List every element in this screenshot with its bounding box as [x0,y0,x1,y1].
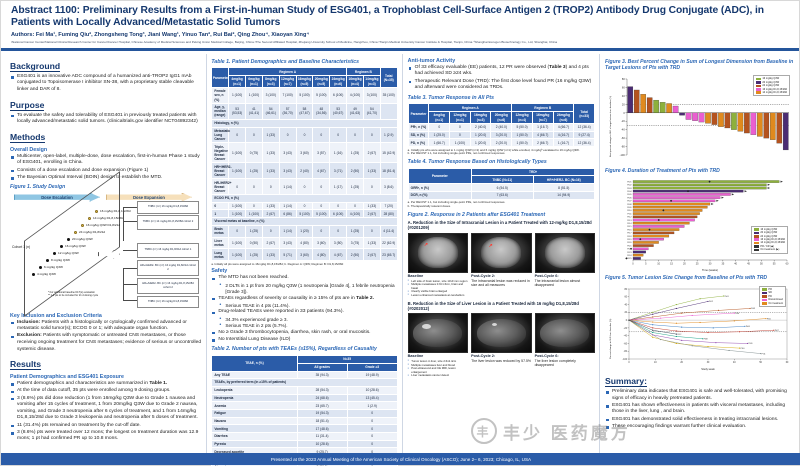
series-line [629,320,740,348]
figure-4-legend: 16 mg/kg Q3W20 mg/kg Q3W24 mg/kg Q3W16 m… [751,226,788,254]
data-point [734,320,735,321]
svg-text:30: 30 [707,362,710,364]
table-header-cell: Regimen A [429,104,512,112]
table-row: PRᵃ, n (%)002 (40.0)2 (40.0)5 (50.0)1 (1… [408,124,594,132]
authors-line: Authors: Fei Ma¹, Fuming Qiu², Zhongshen… [11,32,791,39]
dose-level-label: 20 mg/kg Q3W [72,237,93,241]
table-cell: 3 (60) [313,237,330,249]
table-header-cell: 20mg/kg(n=6) [491,112,512,124]
table-cell: 1 (20.0) [470,131,491,139]
dose-level-label: 16 mg/kg D1,8,15/28d [100,209,130,213]
bar [783,113,788,150]
table-cell: 1 (100) [229,210,246,218]
svg-text:Pt21: Pt21 [627,244,632,247]
svg-text:10: 10 [654,362,657,364]
table-header-cell: Regimen B [347,68,381,76]
list-item: The MTD has not been reached. 2 DLTs in … [211,275,397,295]
svg-text:35: 35 [721,262,724,265]
bar [666,104,671,113]
bar [712,113,717,125]
svg-text:60: 60 [786,362,789,364]
svg-text:Pt01: Pt01 [725,295,729,298]
svg-text:Pt08: Pt08 [704,338,708,341]
connector-line [123,207,137,208]
legend-item: 14 mg/kg D1,8,15/28d [756,91,787,94]
list-item: TEAEs regardless of severity or causalit… [211,296,397,309]
figure-2-panel-a-scans: ↗ Baseline Left side of brain lesion, si… [408,233,595,298]
bar [633,215,697,217]
table-cell: 1 (100) [246,88,263,104]
table-row-label: Age, y, median (range) [212,103,229,119]
table-row: Visceral metas at baseline, n (%) [212,218,397,226]
table-header-cell: 4mg/kg(n=1) [429,112,450,124]
table-cell: 4 (80) [313,249,330,261]
bar [725,113,730,128]
criteria-list: Inclusion: Patients with a histologicall… [10,320,201,354]
subheading-criteria: Key Inclusion and Exclusion Criteria [10,313,201,319]
table-row: 01 (100)01 (33)1 (14)00001 (33)7 (20) [212,202,397,210]
table-row: Pyrexia10 (28.6)0 [212,440,397,448]
section-heading-background: Background [10,61,60,72]
legend-swatch [754,238,759,241]
table-cell: 0 [330,127,347,143]
bar [633,225,684,227]
safety-sublist: 34.3% experienced grade ≥ 3. Serious TEA… [218,317,397,329]
table-header-cell: TEAE, n (%) [212,355,297,371]
table-row-label: 0 [212,202,229,210]
bar [679,113,684,116]
table-cell: 1 (33) [262,202,279,210]
table-row: Histology, n (%) [212,119,397,127]
table-group-label: ECOG PS, n (%) [212,195,397,203]
legend-swatch [762,295,767,298]
mri-brain-image [535,233,595,273]
table-cell: 10 (28.6) [297,440,347,448]
table-cell: 0 [296,202,313,210]
table-cell: 1 (20) [296,225,313,237]
svg-text:Pt24: Pt24 [627,254,632,257]
table-row: 11 (100)1 (100)2 (67)6 (86)5 (100)5 (100… [212,210,397,218]
table-header-cell: 14mg/kg(n=3) [363,76,380,88]
bar [633,247,648,249]
bar [641,95,646,114]
table-cell: 4 (67) [313,163,330,179]
table-cell: 28 (54.3) [297,386,347,394]
table-header-cell: HR+/HER2- BC (N=16) [533,176,595,184]
table-header-cell: Grade ≥3 [347,363,397,371]
svg-text:Pt05: Pt05 [627,193,632,196]
table-header-cell: 4mg/kg(n=1) [229,76,246,88]
table-cell: 4 (16.7) [553,131,574,139]
table-cell: 2 (20.0) [491,139,512,147]
data-point [676,323,677,324]
svg-text:Pt11: Pt11 [627,212,632,215]
svg-text:Pt07: Pt07 [627,199,632,202]
list-item: 3 (8.6%) pts did dose reduction (1 from … [10,396,201,422]
table-cell: 1 (2.9) [380,127,397,143]
background-list: ESG401 is an innovative ADC compound of … [10,74,201,94]
svg-text:Pt20: Pt20 [627,241,632,244]
table-row-label: PD, n (%) [408,139,429,147]
table-row-label: PRᵃ, n (%) [408,124,429,132]
table-row-label: 1 [212,210,229,218]
table-row: Liver metas1 (100)0 (50)2 (67)3 (43)4 (8… [212,237,397,249]
table-cell: 7 (100) [279,88,296,104]
table-cell: 1 (33) [262,163,279,179]
table-cell: 0 [330,225,347,237]
lesion-marker-icon: ↗ [424,242,428,248]
bar [738,113,743,132]
table-row-label: Female sex, n (%) [212,88,229,104]
list-item: Exclusion: Patients with symptomatic or … [10,333,201,353]
bar [633,238,664,240]
figure-3-y-axis-label: Best percent change in SLD of target les… [610,96,612,157]
svg-text:25: 25 [696,262,699,265]
table-cell: 1 (50.0) [512,139,533,147]
table-row-label: Pyrexia [212,440,297,448]
data-point [681,327,682,328]
expansion-box: TNBC (n=) 16 mg/kg D1,8,15/28d [137,201,199,214]
connector-line [123,221,137,222]
table-cell: 0 [229,127,246,143]
bar [686,113,691,120]
table-cell: 1 (33) [262,249,279,261]
column-4: Figure 3. Best Percent Change in Sum of … [599,54,799,455]
scan-item: Post-Cycle 6: The intracranial lesion al… [535,233,595,298]
bar [633,251,646,253]
legend-item: On treatment [762,302,783,305]
figure-2-caption: Figure 2. Response in 2 Patients after E… [408,212,595,218]
table-cell: 12 (36.4) [574,124,595,132]
table-row: Fatigue19 (54.3)0 [212,409,397,417]
table-cell: 3 (43) [279,143,296,163]
legend-swatch [756,81,761,84]
bar [633,199,715,201]
list-item: ESG401 has demonstrated solid effectiven… [605,417,794,424]
svg-text:60: 60 [786,262,789,265]
table-header-cell: 24mg/kg(n=6) [553,112,574,124]
subheading-overall-design: Overall Design [10,147,201,153]
figure-3-legend: 16 mg/kg Q3W20 mg/kg Q3W24 mg/kg Q3W16 m… [753,75,790,96]
svg-text:40: 40 [624,304,627,306]
table-cell: 0 [296,127,313,143]
svg-text:Pt15: Pt15 [627,225,632,228]
list-item: To evaluate the safety and tolerability … [10,113,201,126]
bar [633,183,766,185]
legend-label: 14 mg/kg D1,8,15/28d [762,91,787,94]
page-title: Abstract 1100: Preliminary Results from … [11,5,791,29]
legend-swatch [762,299,767,302]
svg-text:20: 20 [622,103,625,107]
table-header-cell: 16mg/kg(n=7) [532,112,553,124]
table-cell: 0 [363,225,380,237]
list-item: Consists of a dose escalation and dose e… [10,168,201,175]
on-treatment-marker [716,200,718,202]
figure-1-notes: * For additional baseline DLT(s) evaluat… [48,291,120,297]
svg-text:80: 80 [622,77,625,81]
svg-text:-20: -20 [621,120,625,124]
svg-text:Pt02: Pt02 [627,183,632,186]
bar [633,196,720,198]
table-row-label: Neutropenia [212,394,297,402]
list-item: Drug-related TEAEs were reported in 33 p… [211,309,397,329]
table-cell: 2 (67) [363,210,380,218]
svg-text:40: 40 [733,362,736,364]
svg-text:40: 40 [734,262,737,265]
on-treatment-marker [721,196,723,198]
column-3: Anti-tumor Activity Of 33 efficacy evalu… [402,54,599,455]
table-cell: 1 (100) [229,237,246,249]
figure-3-waterfall-chart: 806040200-20-40-60-80-100Best percent ch… [605,73,794,165]
bar [770,113,775,140]
svg-text:-40: -40 [621,128,625,132]
data-point [676,330,677,331]
table-cell: 1 (100) [229,88,246,104]
table-cell: 18 (51.4) [380,163,397,179]
table-cell: 2 (40.0) [491,124,512,132]
table-cell: 0 (50) [246,237,263,249]
table-cell: 6 (100) [330,210,347,218]
swimmer-svg: 051015202530354045505560Pt01Pt02Pt03Pt04… [605,177,795,272]
table-header-cell: All grades [297,363,347,371]
table-header-cell: 12mg/kg(n=7) [279,76,296,88]
table-1-note: a. Initially all pts were assigned to 16… [211,263,397,267]
safety-sublist: 2 DLTs in 1 pt from 20 mg/kg Q3W (1 neut… [218,283,397,295]
table-cell: 0 [363,179,380,195]
bar [757,113,762,137]
svg-text:-60: -60 [624,343,628,345]
data-point [692,315,693,316]
dose-level-label: 8 mg/kg Q3W [51,258,70,262]
data-point [676,336,677,337]
bar [751,113,756,135]
table-cell: 1 (100) [246,210,263,218]
scan-item: Baseline Tumor lesion in liver, size 2.6… [408,313,468,378]
svg-text:80: 80 [624,289,627,291]
data-point [681,340,682,341]
table-cell: 4 (66.7) [553,124,574,132]
table-cell: 3 (20.0) [491,131,512,139]
bar [633,209,702,211]
cohort-label: Cohort 1 (n) [12,245,30,249]
bar [633,219,695,221]
table-cell: 1 (66.7) [429,139,450,147]
legend-swatch [754,249,759,252]
table-cell: 2 (50) [347,163,364,179]
legend-swatch [754,232,759,235]
legend-swatch [756,91,761,94]
table-cell: 54(46,61) [262,103,279,119]
table-row: TEAEs, by preferred term (in ≥15% of pat… [212,379,397,387]
list-item: Of 33 efficacy evaluable (EE) patients, … [408,65,595,78]
dose-level-label: 16 mg/kg Q3W D1,8/21d [86,223,120,227]
table-demographics: ParameterRegimen ARegimen BTotal(N=35)4m… [211,67,397,261]
table-row: DCR, n (%)7 (63.6)14 (94.9) [408,192,594,200]
connector-line [123,250,137,251]
mri-liver-image [535,313,595,353]
table-header-cell: 16mg/kg(n=5) [296,76,313,88]
scan-text: The liver lesion was reduced by 57.5% [471,359,531,363]
list-item: Patient demographics and characteristics… [10,381,201,388]
table-4-caption: Table 4. Tumor Response Based on Histolo… [408,159,595,165]
table-row: Leukopenia28 (54.3)10 (28.6) [212,386,397,394]
svg-text:Pt14: Pt14 [627,222,632,225]
data-point [652,330,653,331]
svg-text:Pt17: Pt17 [627,231,632,234]
table-cell: 15 (42.9) [380,143,397,163]
table-cell: 5 (100) [296,210,313,218]
table-4-notes: a. Per RECIST 1.1, but including single-… [408,201,595,209]
table-cell: 19 (48.9) [347,371,397,379]
figure-2-panel-b-scans: Baseline Tumor lesion in liver, size 2.6… [408,313,595,378]
legend-swatch [762,288,767,291]
table-cell: 57(36,70) [279,103,296,119]
svg-text:40: 40 [622,94,625,98]
figure-2-panel-b-title: B. Reduction in the Size of Liver Lesion… [408,301,595,311]
section-heading-results: Results [10,359,41,370]
purpose-list: To evaluate the safety and tolerability … [10,113,201,126]
scan-item: Post-Cycle 2: The liver lesion was reduc… [471,313,531,378]
table-row-label: Diarrhea [212,433,297,441]
legend-swatch [756,78,761,81]
table-cell: 0 [296,179,313,195]
list-item: Therapeutic Relevant Dose (TRD): The fir… [408,79,595,92]
lesion-marker-icon: ↗ [488,243,492,249]
svg-text:Pt10: Pt10 [627,209,632,212]
table-row-label: HR+/HER2- Breast Cancer [212,163,229,179]
table-cell: 2 (67) [262,210,279,218]
figure-4-caption: Figure 4. Duration of Treatment of Pts w… [605,168,794,174]
table-cell: 4 (80) [296,237,313,249]
table-cell: 1 (25) [246,249,263,261]
column-2: Table 1. Patient Demographics and Baseli… [206,54,401,455]
figure-5-legend: PRSDPDDiscontinuedOn treatment [759,286,786,307]
table-cell: 14 (94.9) [533,192,595,200]
svg-text:50: 50 [759,362,762,364]
table-cell: 3 (100) [262,88,279,104]
svg-text:Pt09: Pt09 [749,342,753,345]
table-row: Lung metas1 (100)1 (25)1 (33)5 (71)3 (60… [212,249,397,261]
bar [633,228,679,230]
table-3-notes: a. Initially pts who were assigned to 1 … [408,149,595,157]
svg-text:55: 55 [773,262,776,265]
dose-level-label: 4 mg/kg Q3W [37,272,56,276]
scan-bullets: Tumor lesion in liver, size 2.6x2.4cm Mu… [408,360,468,378]
table-header-cell: 12mg/kg(n=1) [450,112,471,124]
legend-label: On treatment [768,302,783,305]
table-cell: 11 (31.4) [297,433,347,441]
figure-5-caption: Figure 5. Tumor Lesion Size Change from … [605,275,794,281]
table-cell: 1 (100) [229,202,246,210]
svg-text:Pt03: Pt03 [627,187,632,190]
data-point [718,310,719,311]
table-cell: 0 [262,225,279,237]
table-cell: 0 [246,179,263,195]
svg-text:-80: -80 [624,351,628,353]
table-header-cell: 16mg/kg(n=3) [470,112,491,124]
affiliations-line: ¹National Cancer Center/National Clinica… [11,40,791,44]
list-item: No ≥ Grade 3 thrombocytopenia, diarrhea,… [211,330,397,337]
legend-item: On treatment (▶) [754,248,785,251]
table-cell: 0 [330,202,347,210]
legend-swatch [762,292,767,295]
on-treatment-marker [711,203,713,205]
expansion-box: HR+/HER2- BC (n=) 16 mg/kg D1,8/21d coho… [137,260,199,276]
scan-item: ↗ Post-Cycle 2: The intracranial lesion … [471,233,531,298]
table-header-cell: 20mg/kg(n=5) [313,76,330,88]
table-cell: 3 (100) [363,88,380,104]
table-cell: 2 (40) [296,163,313,179]
list-item: Multicenter, open-label, multiple-dose, … [10,154,201,167]
table-group-label: Visceral metas at baseline, n (%) [212,218,397,226]
scan-item: Post-Cycle 6: The liver lesion completel… [535,313,595,378]
table-header-cell: 8mg/kg(n=3) [262,76,279,88]
table-cell: 58(47,67) [296,103,313,119]
table-cell: 22 (62.9) [380,237,397,249]
bar [633,231,674,233]
table-cell: 53(53,53) [229,103,246,119]
table-header-cell: Parameter [212,68,229,88]
scan-bullets: Left side of brain lesion, size 13x9 mm … [408,280,468,298]
table-cell: 54(41,70) [363,103,380,119]
table-cell: 1 (33) [262,127,279,143]
data-point [652,312,653,313]
table-cell: 1 (50.0) [512,131,533,139]
table-cell: 0 [262,179,279,195]
bar [731,113,736,130]
list-item: ESG401 is an innovative ADC compound of … [10,74,201,94]
table-3-caption: Table 3. Tumor Response in All Pts [408,95,595,101]
legend-swatch [754,242,759,245]
svg-text:Pt13: Pt13 [627,219,632,222]
activity-list: Of 33 efficacy evaluable (EE) patients, … [408,65,595,92]
table-row-label: Anemia [212,402,297,410]
column-1: Background ESG401 is an innovative ADC c… [3,54,206,455]
table-cell: 3 (50) [330,237,347,249]
bar [634,90,639,113]
table-cell: 1 (25) [347,225,364,237]
bar [633,206,707,208]
table-header-cell: 6mg/kg(n=1) [246,76,263,88]
methods-list: Multicenter, open-label, multiple-dose, … [10,154,201,182]
poster-root: Abstract 1100: Preliminary Results from … [0,0,800,466]
data-point [692,345,693,346]
bar [764,113,769,138]
svg-text:0: 0 [623,111,625,115]
bar [633,180,779,182]
table-row: Anemia23 (65.7)1 (2.9) [212,402,397,410]
svg-text:0: 0 [626,320,628,322]
table-cell: 0 [313,127,330,143]
table-cell: 1 (25) [347,179,364,195]
svg-text:Pt01: Pt01 [627,180,632,183]
svg-text:Pt03: Pt03 [751,307,755,310]
connector-line [123,207,124,241]
dose-level-label: 24 mg/kg D1,8/21d [79,230,105,234]
table-cell: 5 (71) [279,249,296,261]
list-item: 11 (31.4%) pts remained on treatment by … [10,423,201,430]
table-group-label: TEAEs, by preferred term (in ≥15% of pat… [212,379,397,387]
table-teaes: TEAE, n (%)N=35All gradesGrade ≥3Any TEA… [211,355,397,466]
bar [633,241,659,243]
table-cell: 1 (100) [450,139,471,147]
table-cell: 23 (65.7) [380,249,397,261]
list-item: At the time of data cutoff, 35 pts were … [10,388,201,395]
table-cell: 6 (86) [279,210,296,218]
table-cell: 4 (66.7) [532,131,553,139]
connector-line [123,300,137,301]
dose-level-label: 16 mg/kg Q3W [65,244,86,248]
